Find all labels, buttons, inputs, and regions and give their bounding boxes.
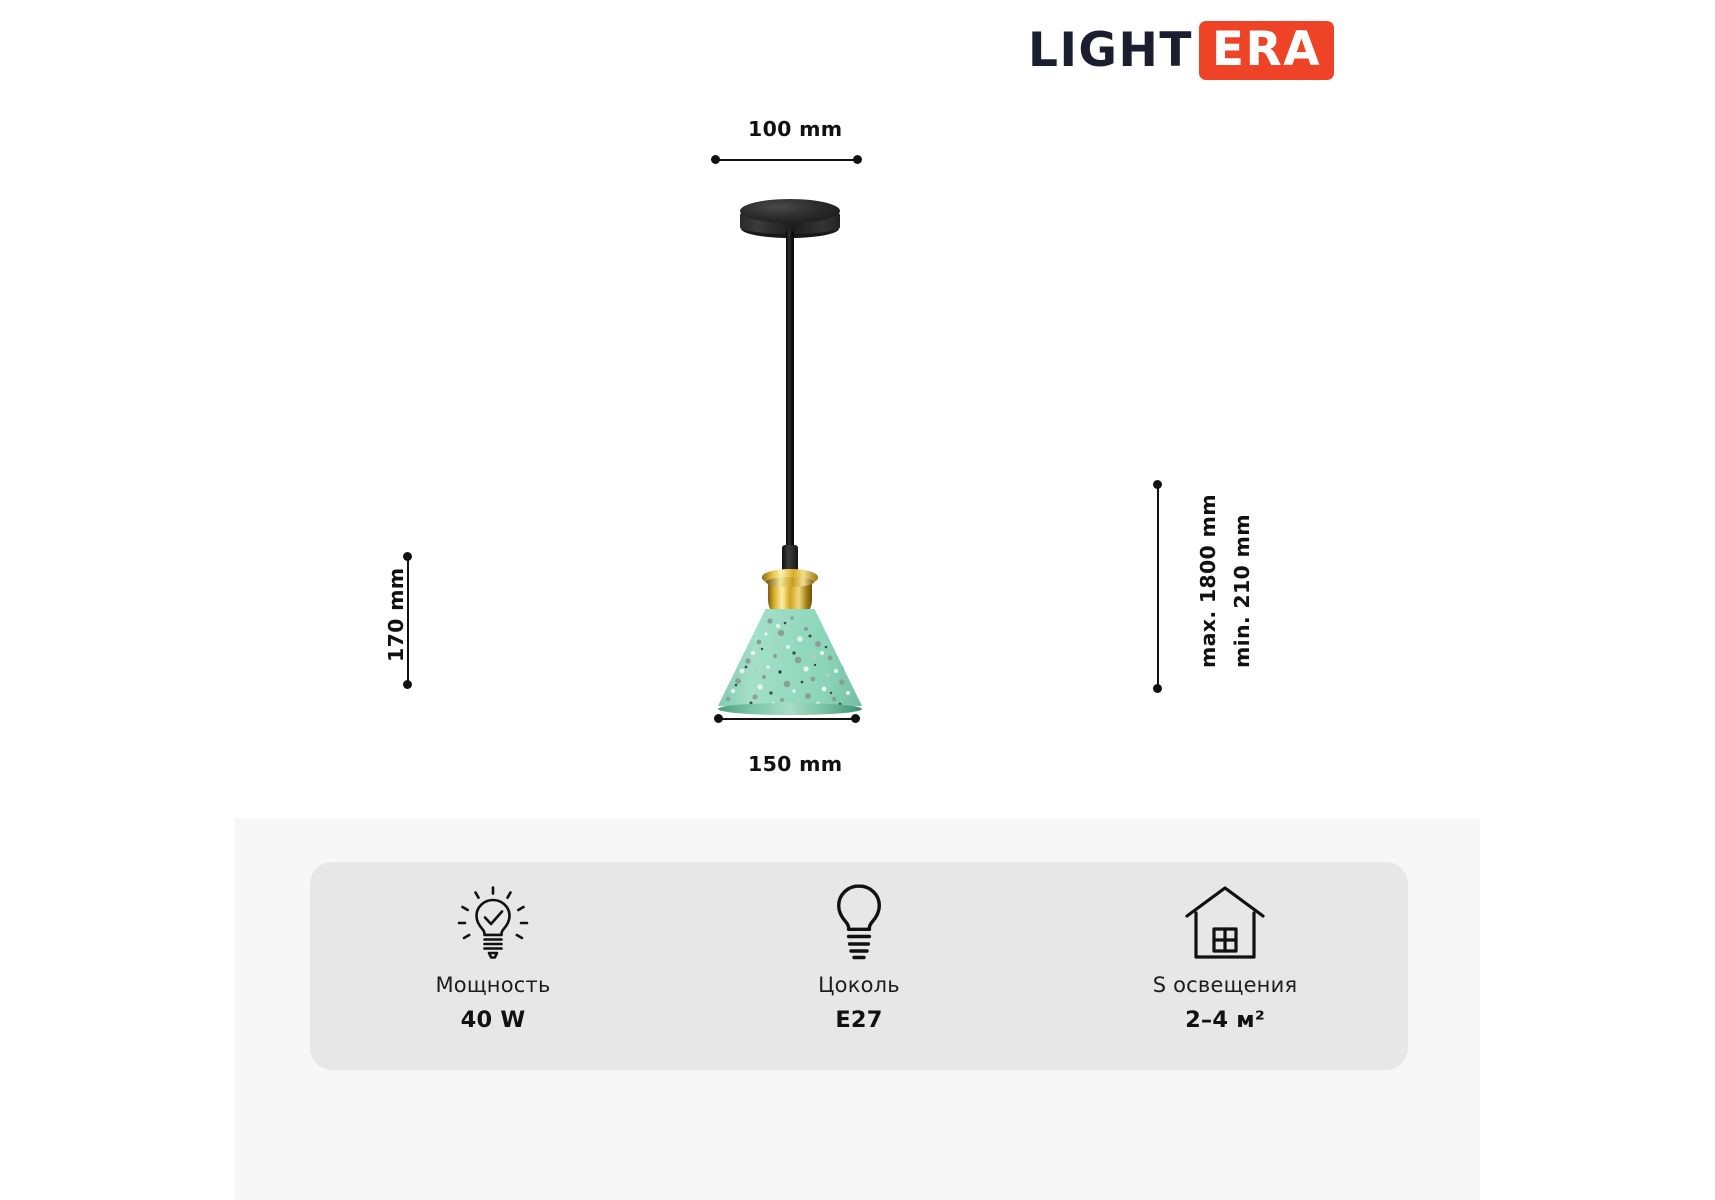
dimension-endpoint-bottom [403,680,412,689]
spec-value-area: 2–4 м² [1185,1007,1265,1033]
house-icon [1182,883,1268,961]
spec-item-area: S освещения 2–4 м² [1042,862,1408,1070]
dimension-label-max-length: max. 1800 mm [1196,494,1220,668]
dimension-endpoint-right-bottom [851,714,860,723]
logo-text-light: LIGHT [1028,27,1199,74]
shade-rim [718,703,862,715]
shade-cone [718,609,862,709]
dimension-endpoint-top [403,552,412,561]
product-illustration-pendant-lamp [700,185,880,710]
specifications-panel: Мощность 40 W Цоколь E27 S освещения 2–4… [310,862,1408,1070]
spec-item-socket: Цоколь E27 [676,862,1042,1070]
spec-value-power: 40 W [461,1007,526,1033]
bulb-check-icon [453,883,533,961]
spec-item-power: Мощность 40 W [310,862,676,1070]
dimension-endpoint-top-right [1153,480,1162,489]
dimension-endpoint-right [853,155,862,164]
spec-title-power: Мощность [435,973,550,997]
brand-logo: LIGHT ERA [1028,22,1334,78]
dimension-line-shade-width [719,718,855,720]
logo-text-era: ERA [1212,26,1321,73]
logo-badge-era: ERA [1199,21,1334,80]
dimension-line-canopy-width [715,159,858,161]
dimension-endpoint-left [711,155,720,164]
dimension-label-min-length: min. 210 mm [1230,514,1254,668]
terrazzo-lamp-shade [718,609,862,716]
dimension-line-suspension-length [1157,484,1159,688]
socket-ring [766,577,814,587]
canopy-top-face [740,199,840,223]
suspension-cord [786,230,794,555]
terrazzo-speckle-texture [718,609,862,709]
spec-title-area: S освещения [1153,973,1298,997]
dimension-line-shade-height [407,556,409,684]
spec-title-socket: Цоколь [818,973,900,997]
dimension-endpoint-left-bottom [714,714,723,723]
dimension-label-shade-width: 150 mm [748,752,842,776]
dimension-endpoint-bottom-right [1153,684,1162,693]
spec-value-socket: E27 [835,1007,882,1033]
dimension-label-shade-height: 170 mm [384,568,408,662]
bulb-icon [819,883,899,961]
dimension-label-canopy-width: 100 mm [748,117,842,141]
